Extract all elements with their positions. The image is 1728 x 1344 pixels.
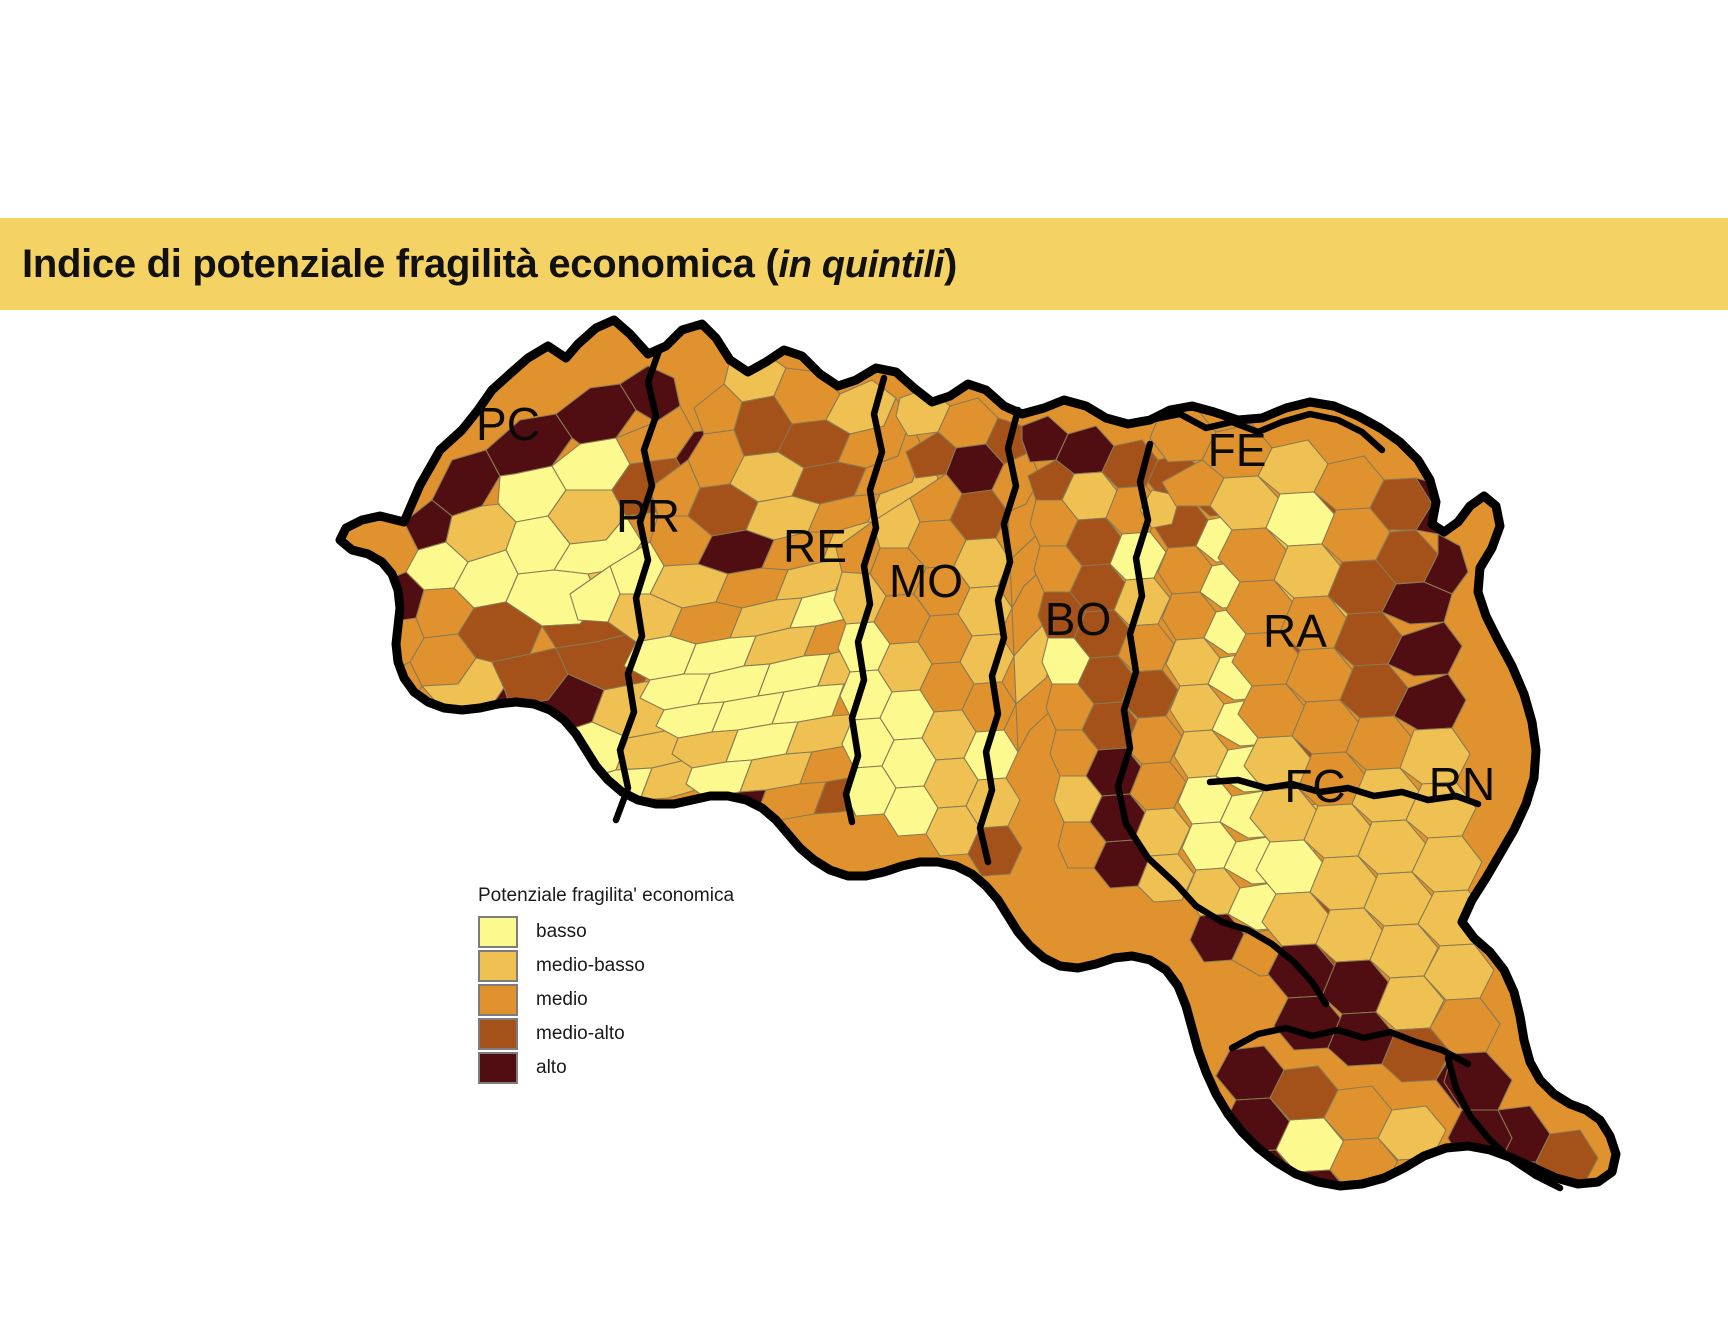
- legend-label-medio-basso: medio-basso: [536, 955, 645, 977]
- legend-item-alto[interactable]: alto: [478, 1051, 858, 1085]
- legend-label-medio: medio: [536, 989, 588, 1011]
- province-label-fc: FC: [1284, 760, 1345, 812]
- legend-swatch-medio: [478, 984, 518, 1016]
- legend-item-medio[interactable]: medio: [478, 983, 858, 1017]
- province-label-mo: MO: [889, 555, 963, 607]
- province-label-bo: BO: [1045, 593, 1111, 645]
- province-label-rn: RN: [1429, 758, 1495, 810]
- province-label-pc: PC: [476, 398, 540, 450]
- legend-item-medio-basso[interactable]: medio-basso: [478, 949, 858, 983]
- legend-label-basso: basso: [536, 921, 587, 943]
- province-label-re: RE: [783, 520, 847, 572]
- page-title-qualifier: in quintili: [778, 244, 944, 286]
- choropleth-map: PC PR RE MO BO FE RA FC RN: [0, 310, 1728, 1344]
- legend-title: Potenziale fragilita' economica: [478, 885, 858, 907]
- legend-label-alto: alto: [536, 1057, 567, 1079]
- legend-item-medio-alto[interactable]: medio-alto: [478, 1017, 858, 1051]
- province-label-fe: FE: [1208, 424, 1267, 476]
- page-title: Indice di potenziale fragilità economica…: [0, 244, 957, 284]
- legend-swatch-alto: [478, 1052, 518, 1084]
- page-title-paren-close: ): [944, 242, 957, 286]
- province-label-pr: PR: [616, 490, 680, 542]
- map-legend: Potenziale fragilita' economica basso me…: [478, 885, 858, 1085]
- legend-label-medio-alto: medio-alto: [536, 1023, 625, 1045]
- province-label-ra: RA: [1263, 605, 1327, 657]
- legend-swatch-basso: [478, 916, 518, 948]
- page-title-main: Indice di potenziale fragilità economica: [22, 242, 765, 286]
- title-banner: Indice di potenziale fragilità economica…: [0, 218, 1728, 310]
- legend-items: basso medio-basso medio medio-alto alto: [478, 915, 858, 1085]
- page-title-paren-open: (: [765, 242, 778, 286]
- legend-swatch-medio-alto: [478, 1018, 518, 1050]
- emilia-romagna-map-svg: PC PR RE MO BO FE RA FC RN: [0, 310, 1728, 1344]
- legend-item-basso[interactable]: basso: [478, 915, 858, 949]
- legend-swatch-medio-basso: [478, 950, 518, 982]
